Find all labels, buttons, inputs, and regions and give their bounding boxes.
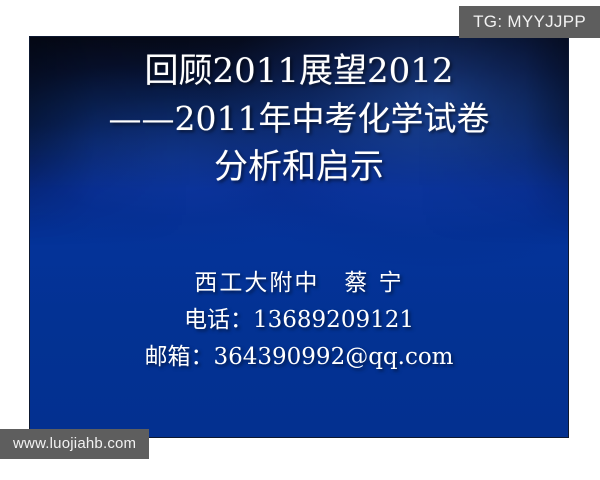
slide-content: 回顾2011展望2012 ——2011年中考化学试卷 分析和启示 西工大附中 蔡… (30, 37, 568, 437)
slide-title-line-1: 回顾2011展望2012 (30, 47, 568, 95)
slide-title-line-2: ——2011年中考化学试卷 (30, 95, 568, 143)
slide-title-block: 回顾2011展望2012 ——2011年中考化学试卷 分析和启示 (30, 47, 568, 191)
slide-title-line-3: 分析和启示 (30, 143, 568, 191)
slide-email-line: 邮箱：364390992@qq.com (30, 339, 568, 376)
presentation-slide: 回顾2011展望2012 ——2011年中考化学试卷 分析和启示 西工大附中 蔡… (30, 37, 568, 437)
watermark-top-right: TG: MYYJJPP (459, 6, 600, 38)
slide-phone-line: 电话：13689209121 (30, 302, 568, 339)
slide-contact-block: 西工大附中 蔡 宁 电话：13689209121 邮箱：364390992@qq… (30, 265, 568, 376)
watermark-bottom-left: www.luojiahb.com (0, 429, 149, 459)
slide-author-line: 西工大附中 蔡 宁 (30, 265, 568, 302)
